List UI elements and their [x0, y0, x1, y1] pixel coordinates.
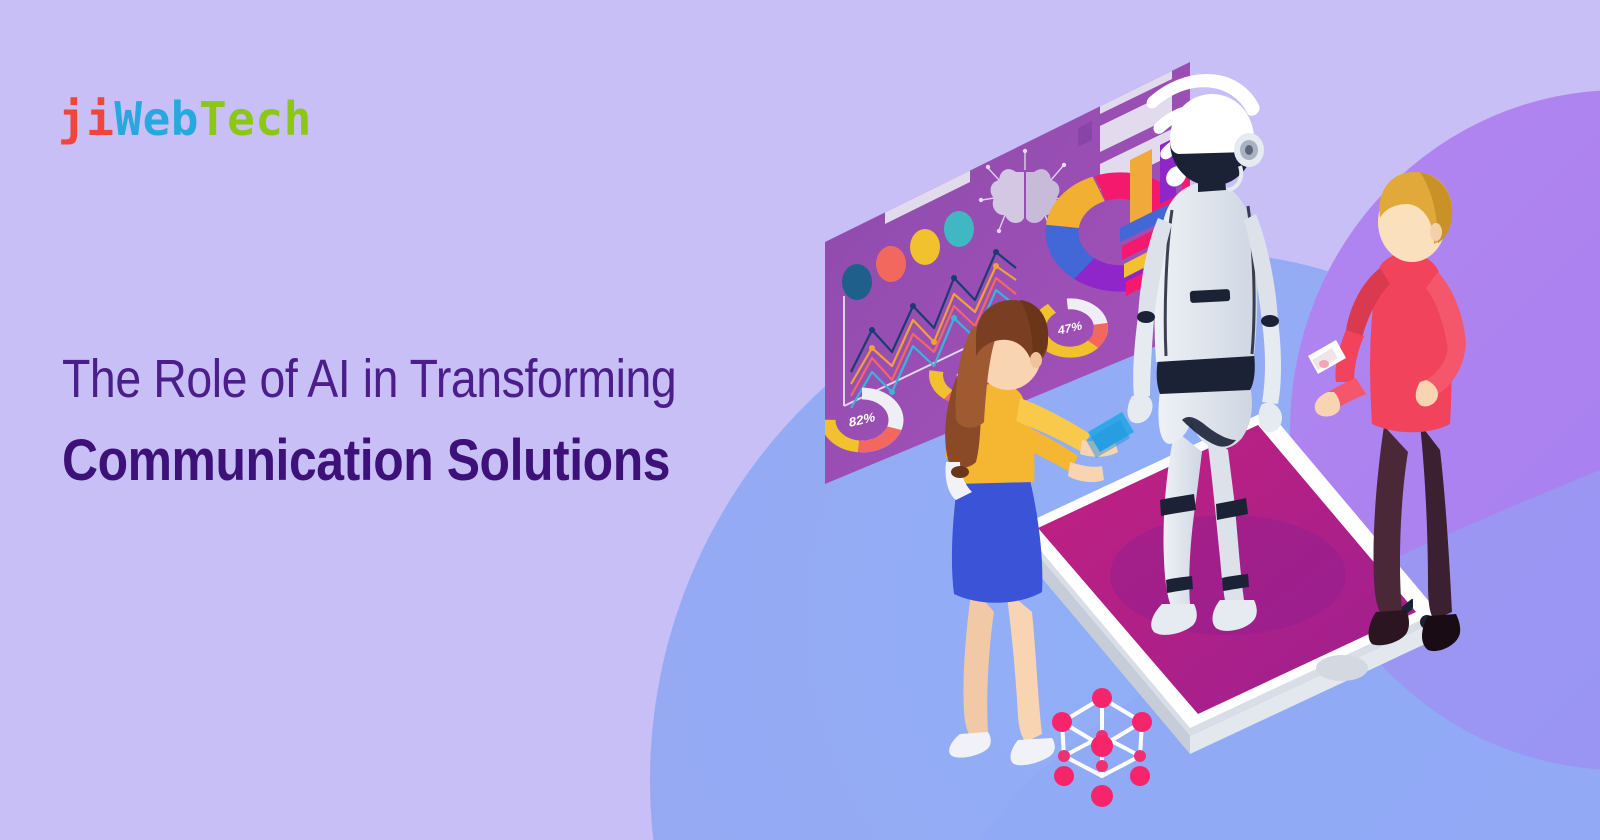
logo-part-ji: ji [58, 96, 114, 142]
headline-block: The Role of AI in Transforming Communica… [62, 350, 802, 493]
molecule-lattice [1052, 688, 1152, 807]
ai-communication-isometric-scene: 82% 15% [720, 0, 1600, 840]
logo-part-tech: Tech [199, 96, 312, 142]
legend-dot-coral [876, 246, 906, 282]
headline-line-2: Communication Solutions [62, 430, 698, 493]
headline-line-1: The Role of AI in Transforming [62, 350, 698, 408]
legend-dot-navy [842, 264, 872, 300]
home-button [1316, 655, 1368, 681]
legend-dot-gold [910, 229, 940, 265]
legend-dot-teal [944, 211, 974, 247]
logo-part-web: Web [114, 96, 199, 142]
jiwebtech-logo[interactable]: jiWebTech [58, 96, 312, 142]
banner-root: jiWebTech The Role of AI in Transforming… [0, 0, 1600, 840]
